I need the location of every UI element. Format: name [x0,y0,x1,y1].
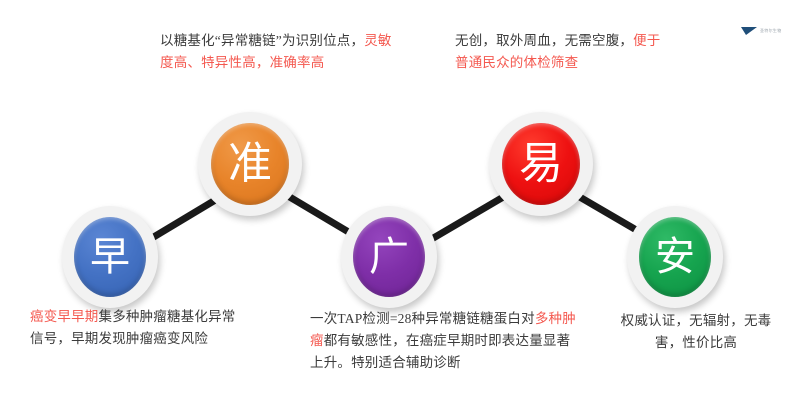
logo-text: 圣特尔生物 [760,29,782,33]
caption-yi: 无创，取外周血，无需空腹，便于普通民众的体检筛查 [455,30,667,74]
caption-zhun-line1: 以糖基化“异常糖链”为识 [160,33,309,48]
node-zao[interactable]: 早 [62,206,158,308]
caption-guang-part1: 一次TAP检测=28种异常糖链糖蛋白对 [310,311,535,326]
node-zao-glyph: 早 [90,237,130,277]
node-zao-disc: 早 [74,217,146,297]
node-guang-glyph: 广 [369,237,409,277]
caption-an-text: 权威认证，无辐射，无毒害，性价比高 [621,313,772,350]
node-an[interactable]: 安 [627,206,723,308]
node-zhun-glyph: 准 [228,142,272,186]
node-yi-disc: 易 [502,123,580,205]
connector-zao-zhun [152,196,222,238]
connector-guang-yi [430,196,505,240]
node-guang-disc: 广 [353,217,425,297]
caption-guang: 一次TAP检测=28种异常糖链糖蛋白对多种肿瘤都有敏感性，在癌症早期时即表达量显… [310,308,580,374]
caption-guang-part2: 都有敏感性，在癌症早期时即表达量显著上升。特别适合辅助诊断 [310,333,570,370]
slide-canvas: 圣特尔生物 早 准 广 易 安 以糖基化“异常糖链”为识别位点，灵敏度高、特 [0,0,788,415]
node-yi[interactable]: 易 [489,112,593,216]
node-yi-glyph: 易 [519,142,563,186]
logo-triangle-icon [741,26,757,36]
caption-an: 权威认证，无辐射，无毒害，性价比高 [612,310,780,354]
caption-zhun: 以糖基化“异常糖链”为识别位点，灵敏度高、特异性高，准确率高 [160,30,398,74]
node-an-glyph: 安 [655,237,695,277]
caption-zao: 癌变早早期集多种肿瘤糖基化异常信号，早期发现肿瘤癌变风险 [30,306,248,350]
node-guang[interactable]: 广 [341,206,437,308]
node-zhun-disc: 准 [211,123,289,205]
caption-zhun-line2-plain: 别位点， [309,33,364,48]
caption-yi-line2-plain: 空腹， [592,33,633,48]
caption-yi-line1: 无创，取外周血，无需 [455,33,592,48]
node-zhun[interactable]: 准 [198,112,302,216]
caption-yi-line3-highlight: 体检筛查 [524,55,579,70]
caption-zhun-line3-highlight: 高，准确率高 [242,55,324,70]
company-logo: 圣特尔生物 [741,26,782,36]
node-an-disc: 安 [639,217,711,297]
caption-zao-highlight: 癌变早早期 [30,309,99,324]
